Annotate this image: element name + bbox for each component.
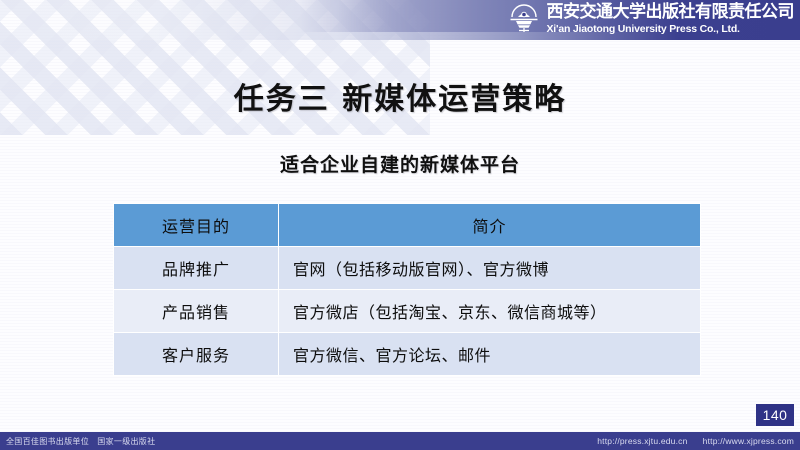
table-header-purpose: 运营目的	[114, 204, 279, 247]
cell-purpose: 品牌推广	[114, 247, 279, 290]
new-media-platform-table: 运营目的 简介 品牌推广 官网（包括移动版官网）、官方微博 产品销售 官方微店（…	[113, 203, 701, 376]
table-header-description: 简介	[279, 204, 701, 247]
cell-description: 官方微店（包括淘宝、京东、微信商城等）	[279, 290, 701, 333]
page-number-badge: 140	[756, 404, 794, 426]
footer-url-press[interactable]: http://press.xjtu.edu.cn	[597, 436, 687, 446]
cell-description: 官方微信、官方论坛、邮件	[279, 333, 701, 376]
table-header-row: 运营目的 简介	[114, 204, 701, 247]
slide-canvas: 西安交通大学出版社有限责任公司 Xi'an Jiaotong Universit…	[0, 0, 800, 450]
table-row: 品牌推广 官网（包括移动版官网）、官方微博	[114, 247, 701, 290]
logo-english-name: Xi'an Jiaotong University Press Co., Ltd…	[547, 24, 795, 35]
cell-purpose: 客户服务	[114, 333, 279, 376]
publisher-logo: 西安交通大学出版社有限责任公司 Xi'an Jiaotong Universit…	[507, 2, 795, 36]
press-gear-emblem-icon	[507, 2, 541, 36]
slide-main-title: 任务三 新媒体运营策略	[0, 74, 800, 118]
footer-credentials: 全国百佳图书出版单位 国家一级出版社	[6, 436, 155, 447]
footer-url-xjpress[interactable]: http://www.xjpress.com	[703, 436, 794, 446]
logo-chinese-name: 西安交通大学出版社有限责任公司	[547, 4, 795, 21]
table-row: 产品销售 官方微店（包括淘宝、京东、微信商城等）	[114, 290, 701, 333]
slide-sub-title: 适合企业自建的新媒体平台	[0, 150, 800, 177]
footer-urls: http://press.xjtu.edu.cn http://www.xjpr…	[597, 436, 794, 446]
slide-footer: 全国百佳图书出版单位 国家一级出版社 http://press.xjtu.edu…	[0, 432, 800, 450]
table-row: 客户服务 官方微信、官方论坛、邮件	[114, 333, 701, 376]
cell-description: 官网（包括移动版官网）、官方微博	[279, 247, 701, 290]
logo-text-block: 西安交通大学出版社有限责任公司 Xi'an Jiaotong Universit…	[547, 4, 795, 35]
cell-purpose: 产品销售	[114, 290, 279, 333]
